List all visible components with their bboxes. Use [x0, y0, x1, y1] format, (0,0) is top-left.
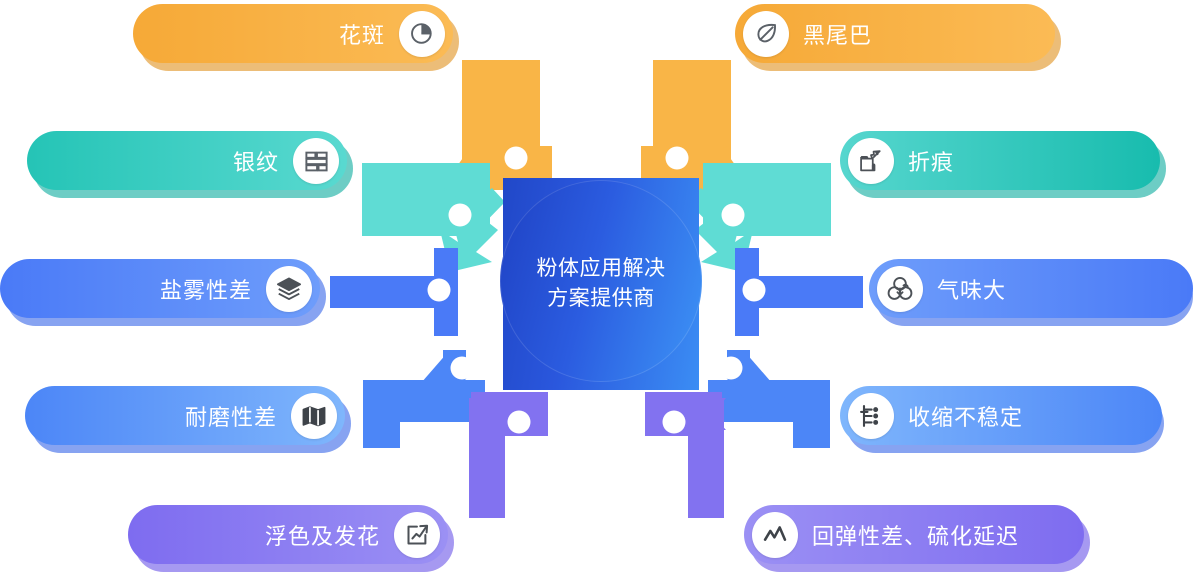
node-label-fu-se-ji-fa-hua: 浮色及发花: [265, 519, 380, 551]
connector-yan-wu: [330, 248, 458, 336]
diagram-canvas: 粉体应用解决 方案提供商 花斑 银纹 盐雾性差: [0, 0, 1193, 577]
node-label-shou-suo-bu-wen-ding: 收缩不稳定: [908, 400, 1023, 432]
node-label-zhe-hen: 折痕: [908, 145, 954, 177]
connector-hei-wei-ba: [641, 60, 743, 190]
brick-wall-icon: [293, 138, 339, 184]
connector-hua-ban: [450, 60, 552, 190]
connector-hui-tan: [645, 392, 726, 518]
recycle-icon: [877, 266, 923, 312]
sitemap-icon: [848, 393, 894, 439]
connector-shou-suo: [708, 350, 830, 448]
node-label-nai-mo-xing-cha: 耐磨性差: [185, 400, 277, 432]
node-label-hua-ban: 花斑: [339, 18, 385, 50]
node-fu-se-ji-fa-hua[interactable]: 浮色及发花: [128, 505, 448, 564]
connector-yin-wen: [362, 163, 505, 272]
connector-qi-wei: [735, 248, 863, 336]
node-zhe-hen[interactable]: 折痕: [840, 131, 1160, 190]
node-qi-wei-da[interactable]: 气味大: [869, 259, 1193, 318]
node-hua-ban[interactable]: 花斑: [133, 4, 453, 63]
line-chart-icon: [752, 512, 798, 558]
node-label-yan-wu-xing-cha: 盐雾性差: [160, 273, 252, 305]
node-yan-wu-xing-cha[interactable]: 盐雾性差: [0, 259, 320, 318]
center-label: 粉体应用解决 方案提供商: [503, 178, 699, 390]
node-nai-mo-xing-cha[interactable]: 耐磨性差: [25, 386, 345, 445]
leaf-icon: [743, 11, 789, 57]
center-node[interactable]: 粉体应用解决 方案提供商: [503, 178, 699, 390]
node-hei-wei-ba[interactable]: 黑尾巴: [735, 4, 1055, 63]
node-label-qi-wei-da: 气味大: [937, 273, 1006, 305]
connector-fu-se: [469, 392, 548, 518]
node-hui-tan-xing-cha[interactable]: 回弹性差、硫化延迟: [744, 505, 1084, 564]
pie-chart-icon: [399, 11, 445, 57]
trend-box-icon: [394, 512, 440, 558]
puzzle-icon: [848, 138, 894, 184]
node-yin-wen[interactable]: 银纹: [27, 131, 347, 190]
node-shou-suo-bu-wen-ding[interactable]: 收缩不稳定: [840, 386, 1162, 445]
node-label-hei-wei-ba: 黑尾巴: [803, 18, 872, 50]
node-label-hui-tan-xing-cha: 回弹性差、硫化延迟: [812, 519, 1019, 551]
connector-nai-mo: [363, 350, 485, 448]
node-label-yin-wen: 银纹: [233, 145, 279, 177]
map-icon: [291, 393, 337, 439]
connector-zhe-hen: [688, 163, 831, 272]
layers-icon: [266, 266, 312, 312]
